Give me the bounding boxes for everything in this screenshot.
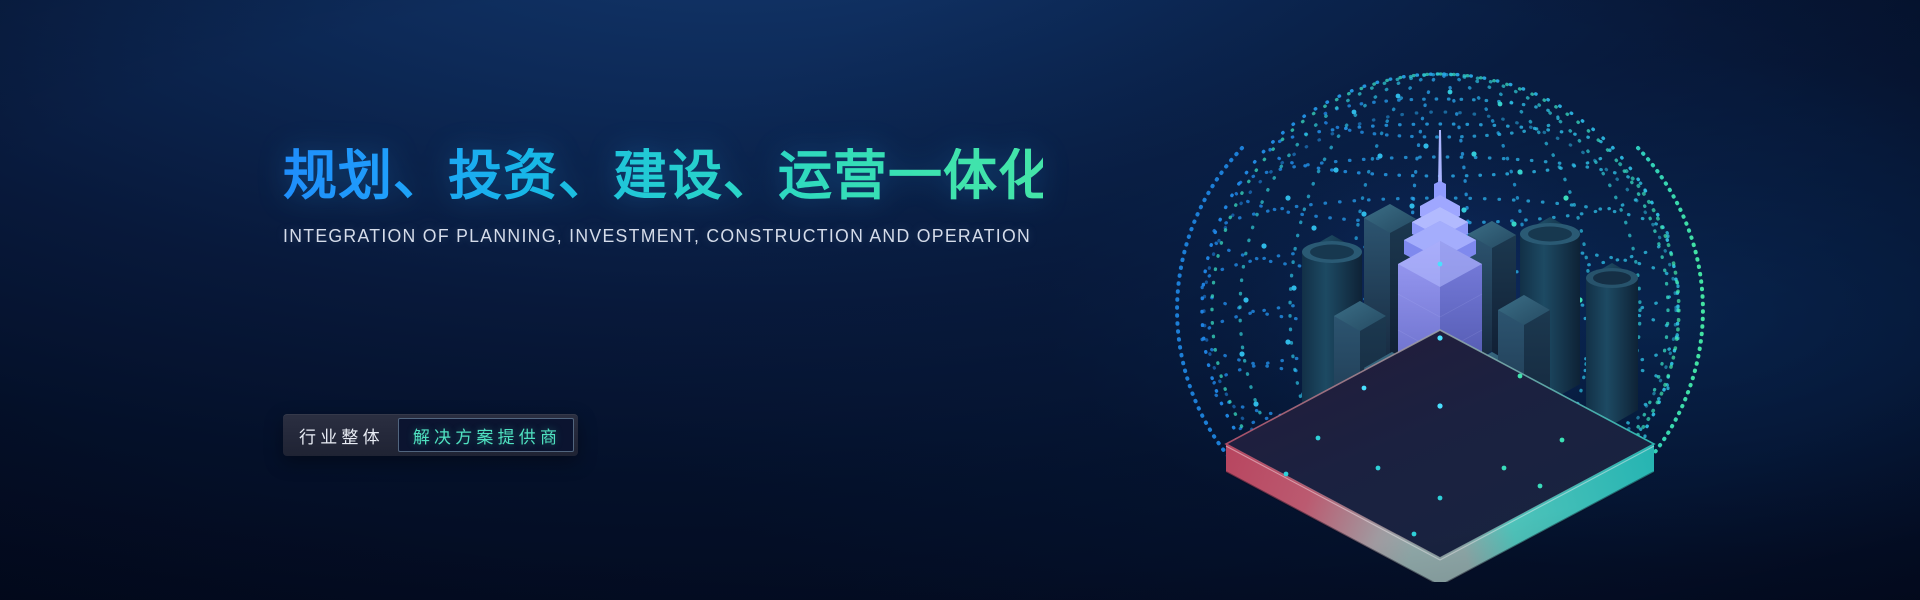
- page-subtitle: INTEGRATION OF PLANNING, INVESTMENT, CON…: [283, 225, 1009, 247]
- page-title: 规划、投资、建设、运营一体化: [283, 148, 1043, 205]
- tag-right-label: 解决方案提供商: [398, 418, 574, 452]
- background-vignette: [0, 0, 1920, 600]
- tag-left-label: 行业整体: [287, 418, 398, 452]
- hero-text-block: 规划、投资、建设、运营一体化 INTEGRATION OF PLANNING, …: [283, 148, 1043, 247]
- solution-provider-tag: 行业整体 解决方案提供商: [283, 414, 578, 456]
- hero-banner: 规划、投资、建设、运营一体化 INTEGRATION OF PLANNING, …: [0, 0, 1920, 600]
